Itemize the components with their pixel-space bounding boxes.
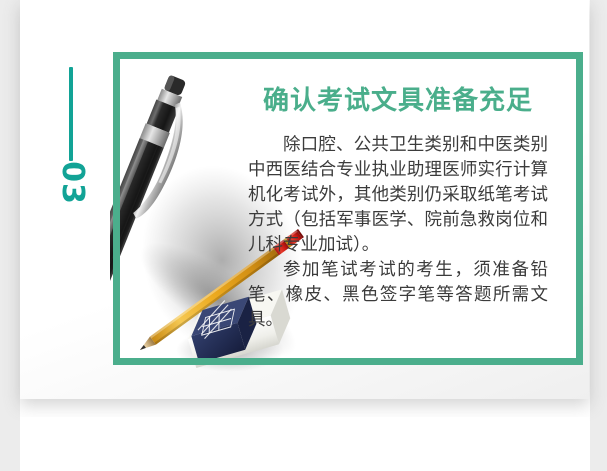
headline: 确认考试文具准备充足	[248, 86, 548, 117]
body-paragraph-2: 参加笔试考试的考生，须准备铅笔、橡皮、黑色签字笔等答题所需文具。	[248, 258, 548, 333]
body-paragraph-1: 除口腔、公共卫生类别和中医类别中西医结合专业执业助理医师实行计算机化考试外，其他…	[248, 133, 548, 258]
step-number: 03	[57, 145, 87, 221]
bottom-white-band	[20, 417, 589, 471]
step-marker: 03	[52, 60, 92, 280]
slide-canvas: 03	[0, 0, 607, 471]
text-column: 确认考试文具准备充足 除口腔、公共卫生类别和中医类别中西医结合专业执业助理医师实…	[248, 86, 548, 333]
